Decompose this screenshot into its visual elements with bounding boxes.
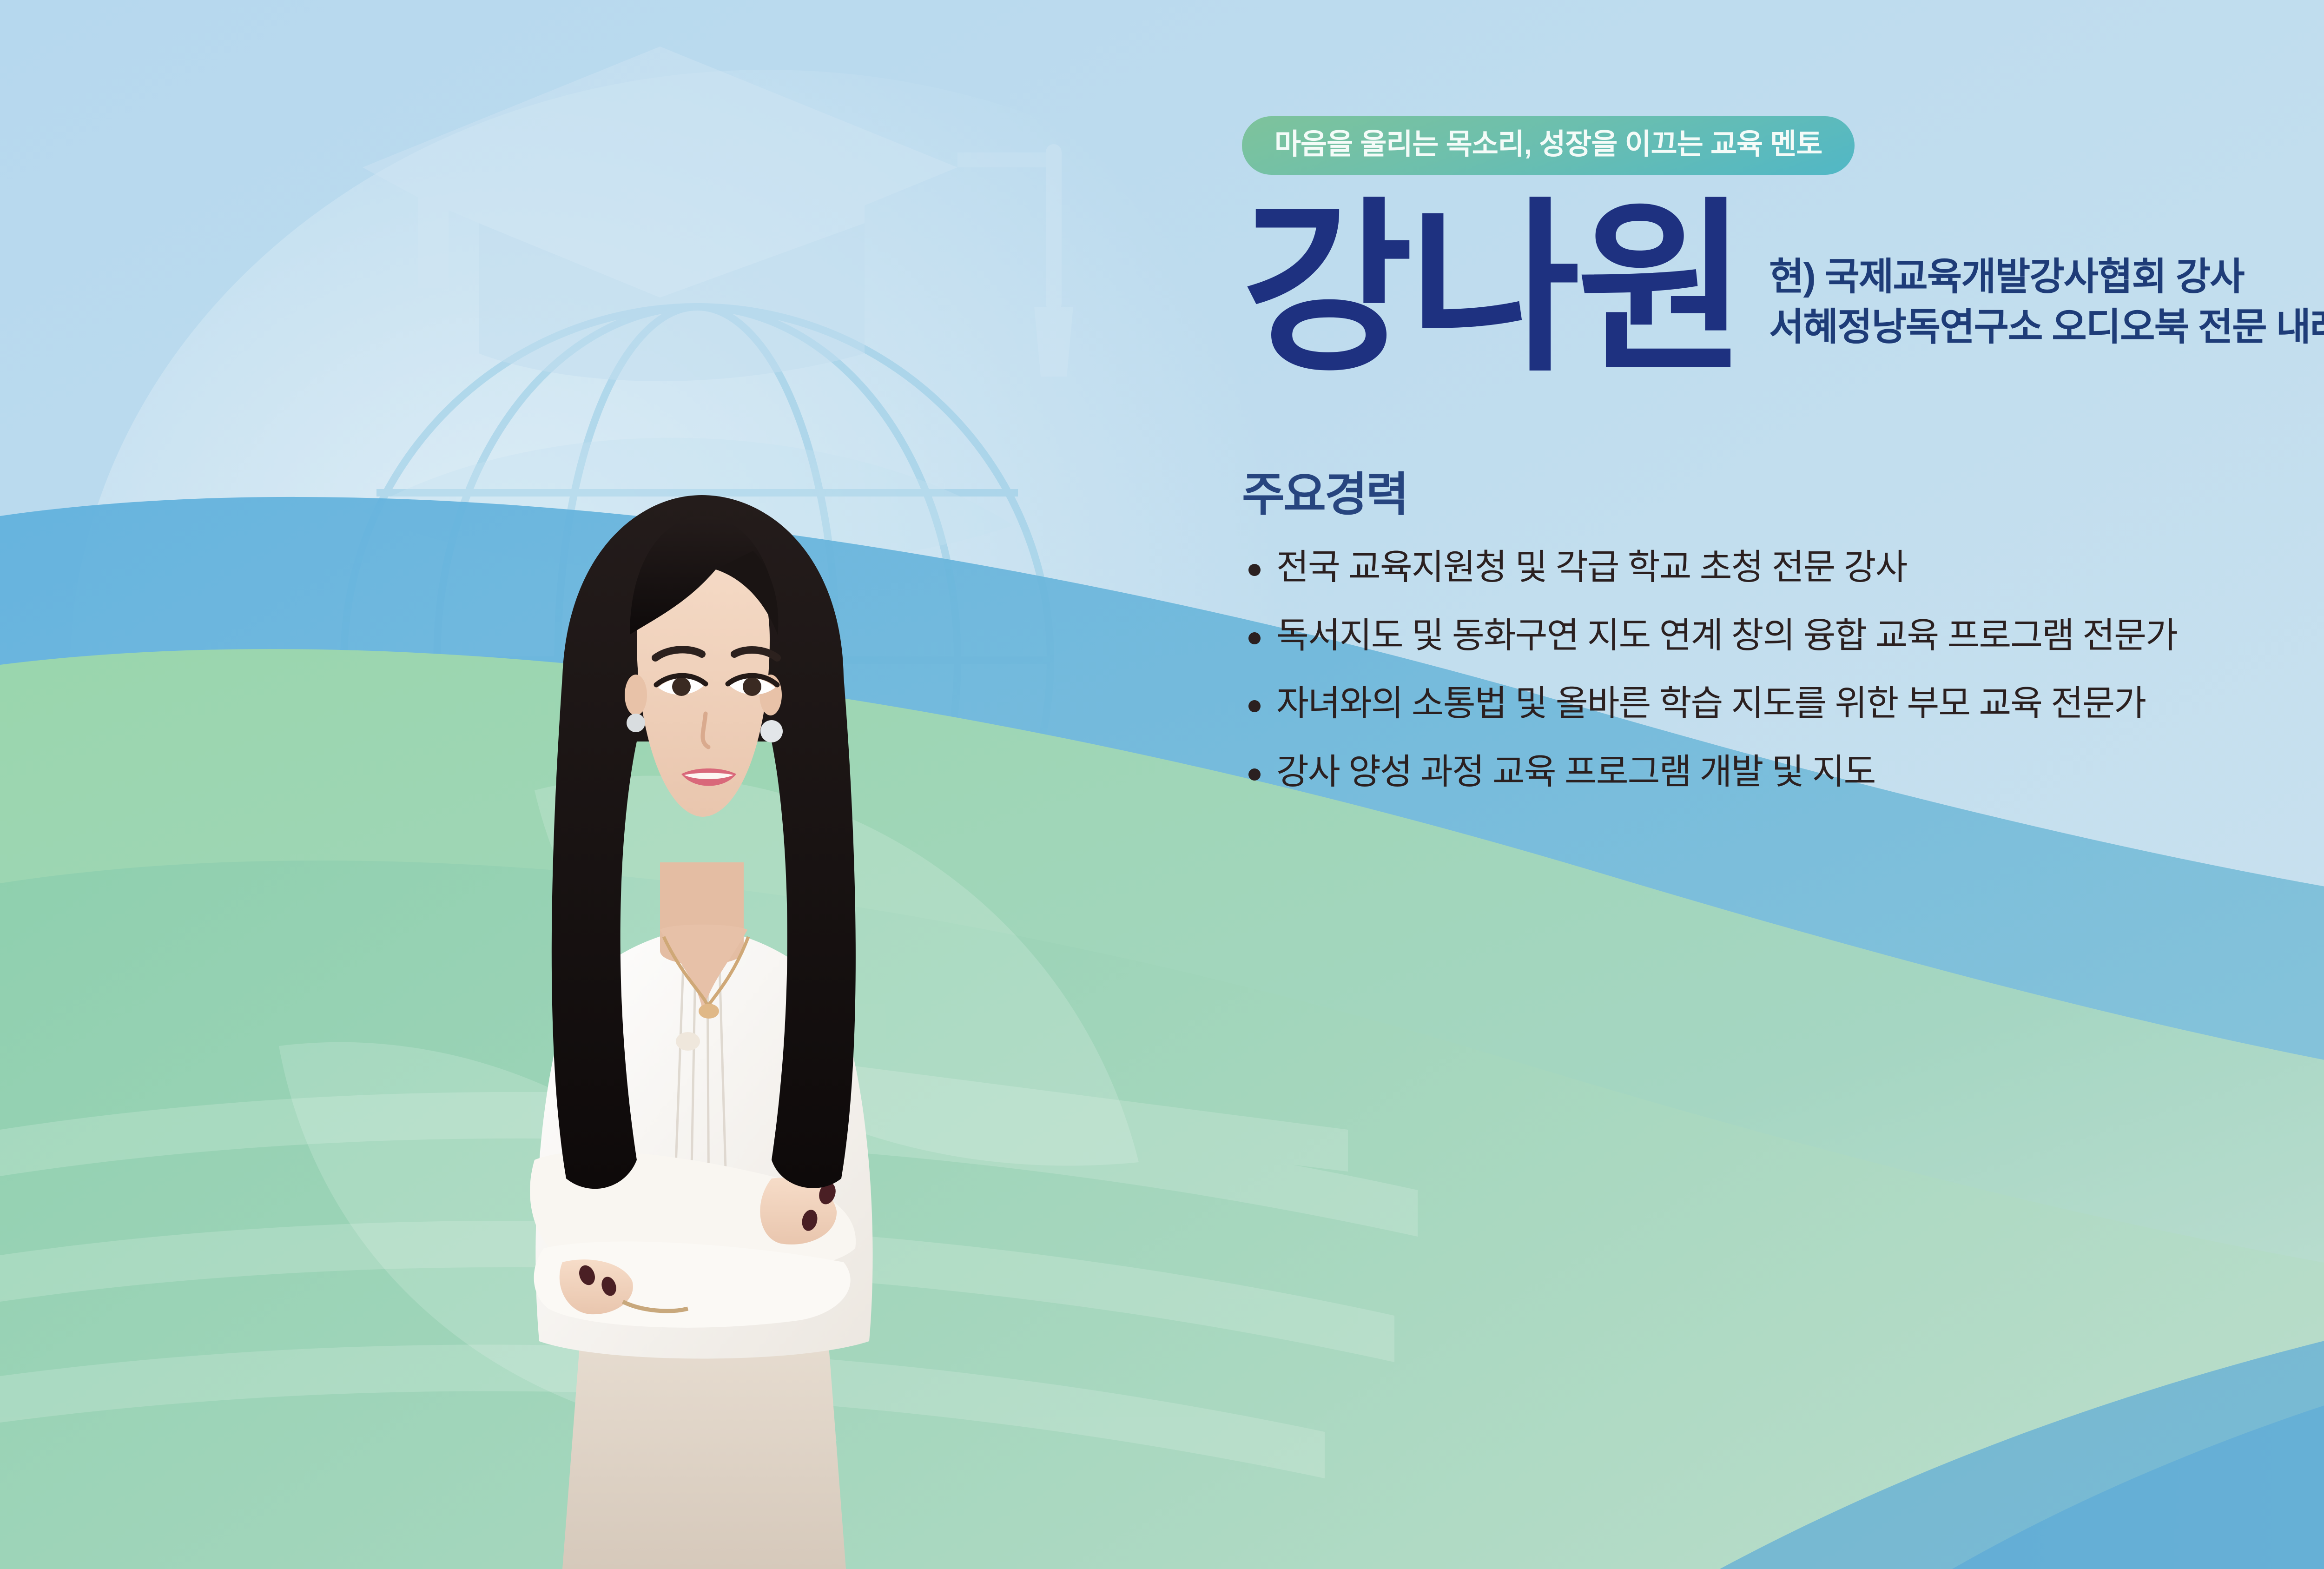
career-item-text: 전국 교육지원청 및 각급 학교 초청 전문 강사 — [1276, 546, 1907, 589]
career-section-title: 주요경력 — [1242, 457, 2324, 524]
graduation-cap-icon — [335, 28, 1148, 446]
career-list-item: 독서지도 및 동화구연 지도 연계 창의 융합 교육 프로그램 전문가 — [1242, 615, 2324, 658]
bullet-icon — [1248, 700, 1261, 712]
career-list-item: 강사 양성 과정 교육 프로그램 개발 및 지도 — [1242, 751, 2324, 794]
career-list-item: 자녀와의 소통법 및 올바른 학습 지도를 위한 부모 교육 전문가 — [1242, 682, 2324, 726]
credential-line-2: 서혜정낭독연구소 오디오북 전문 내레이터 — [1769, 302, 2324, 352]
profile-banner: 마음을 울리는 목소리, 성장을 이끄는 교육 멘토 강나원 현) 국제교육개발… — [0, 0, 2324, 1569]
name-and-credentials-row: 강나원 현) 국제교육개발강사협회 강사 서혜정낭독연구소 오디오북 전문 내레… — [1242, 201, 2324, 377]
bullet-icon — [1248, 564, 1261, 576]
content-column: 마음을 울리는 목소리, 성장을 이끄는 교육 멘토 강나원 현) 국제교육개발… — [1242, 116, 2324, 819]
career-item-text: 자녀와의 소통법 및 올바른 학습 지도를 위한 부모 교육 전문가 — [1276, 682, 2146, 726]
bullet-icon — [1248, 632, 1261, 644]
tagline-badge: 마음을 울리는 목소리, 성장을 이끄는 교육 멘토 — [1242, 116, 1855, 175]
career-list-item: 전국 교육지원청 및 각급 학교 초청 전문 강사 — [1242, 546, 2324, 589]
career-item-text: 독서지도 및 동화구연 지도 연계 창의 융합 교육 프로그램 전문가 — [1276, 615, 2177, 658]
credentials-block: 현) 국제교육개발강사협회 강사 서혜정낭독연구소 오디오북 전문 내레이터 — [1769, 252, 2324, 377]
career-list: 전국 교육지원청 및 각급 학교 초청 전문 강사 독서지도 및 동화구연 지도… — [1242, 546, 2324, 794]
instructor-name: 강나원 — [1242, 201, 1744, 377]
career-item-text: 강사 양성 과정 교육 프로그램 개발 및 지도 — [1276, 751, 1875, 794]
credential-line-1: 현) 국제교육개발강사협회 강사 — [1769, 252, 2324, 302]
instructor-portrait — [363, 416, 1041, 1569]
bullet-icon — [1248, 768, 1261, 781]
